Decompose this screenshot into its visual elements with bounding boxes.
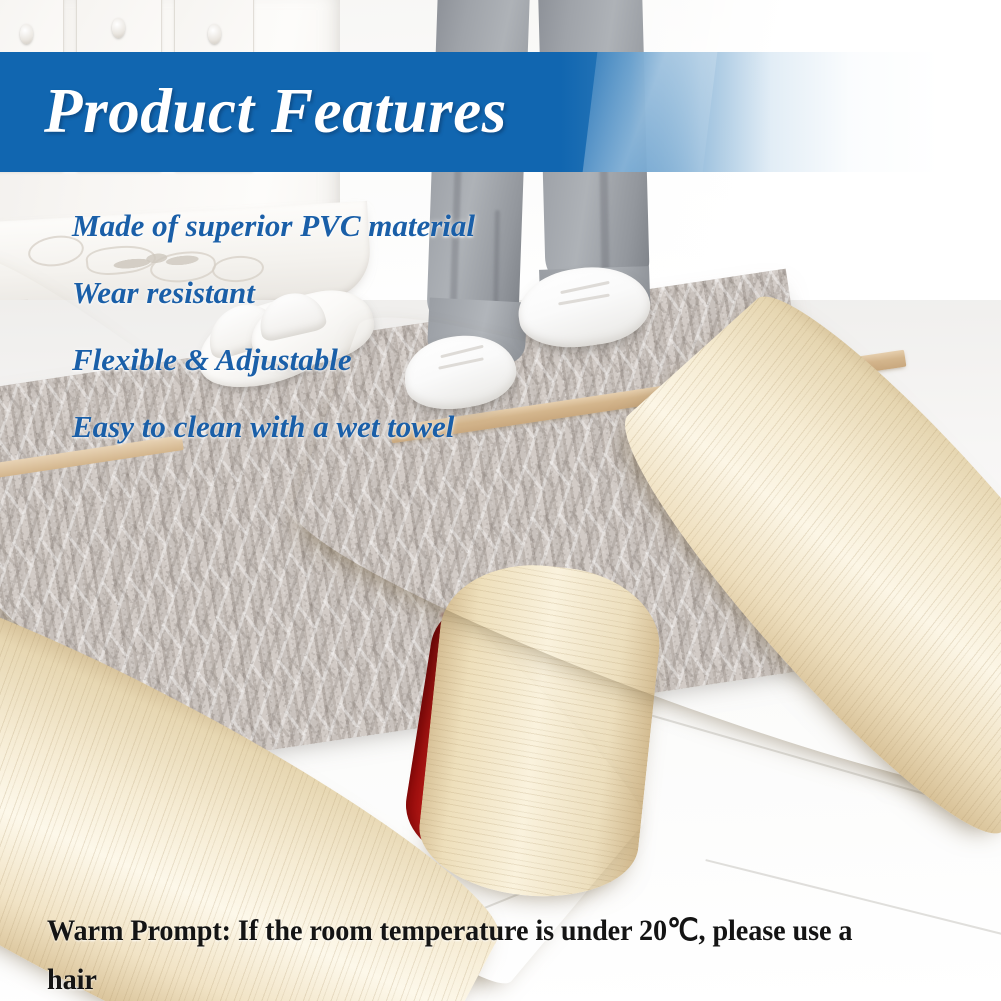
feature-list: Made of superior PVC material Wear resis… <box>72 192 772 460</box>
warm-prompt: Warm Prompt: If the room temperature is … <box>47 906 907 1001</box>
cabinet-knob <box>20 24 33 44</box>
product-features-infographic: Product Features Made of superior PVC ma… <box>0 0 1001 1001</box>
cabinet-knob <box>112 18 125 38</box>
cabinet-knob <box>208 24 221 44</box>
feature-item: Wear resistant <box>72 259 772 326</box>
feature-item: Made of superior PVC material <box>72 192 772 259</box>
feature-item: Flexible & Adjustable <box>72 326 772 393</box>
feature-item: Easy to clean with a wet towel <box>72 393 772 460</box>
warm-prompt-line-1: Warm Prompt: If the room temperature is … <box>47 906 907 1001</box>
banner-sheen <box>583 52 718 172</box>
page-title: Product Features <box>44 69 507 154</box>
